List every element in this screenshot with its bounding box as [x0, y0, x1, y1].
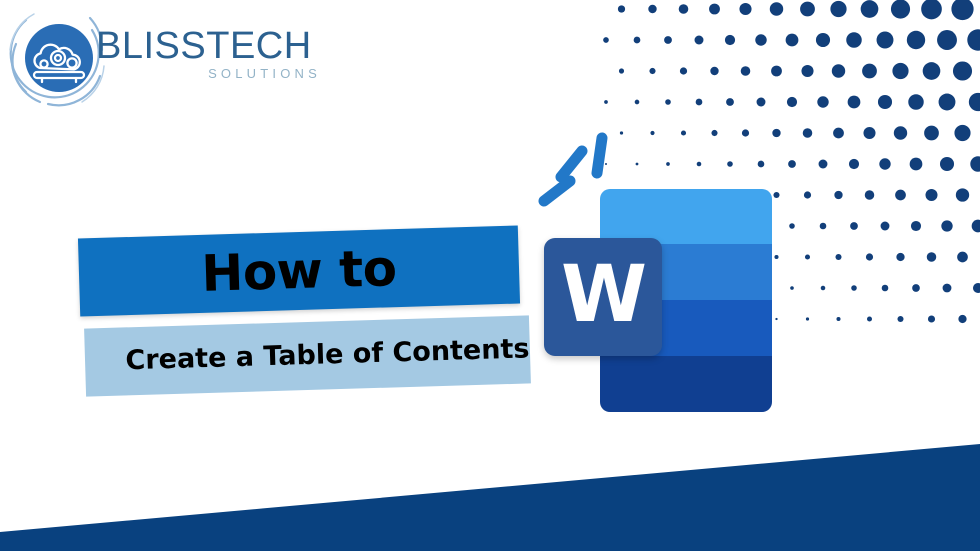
- word-letter-tile: W: [544, 238, 662, 356]
- title-banner-secondary: Create a Table of Contents: [84, 315, 531, 396]
- navy-wedge: [0, 430, 980, 551]
- word-letter-glyph: W: [561, 256, 645, 334]
- brand-name: BLISSTECH: [96, 26, 326, 66]
- cloud-in-circle-icon: [4, 6, 110, 110]
- title-banner-primary: How to: [78, 225, 520, 316]
- microsoft-word-icon: W: [530, 125, 820, 415]
- title-line-2: Create a Table of Contents: [85, 334, 530, 377]
- brand-tagline: SOLUTIONS: [96, 66, 326, 82]
- brand-logo: BLISSTECH SOLUTIONS: [4, 6, 324, 110]
- word-band-4: [600, 356, 772, 412]
- slide-canvas: BLISSTECH SOLUTIONS How to Create a Tabl…: [0, 0, 980, 551]
- word-band-1: [600, 189, 772, 244]
- title-line-1: How to: [201, 242, 398, 300]
- brand-wordmark: BLISSTECH SOLUTIONS: [96, 26, 326, 82]
